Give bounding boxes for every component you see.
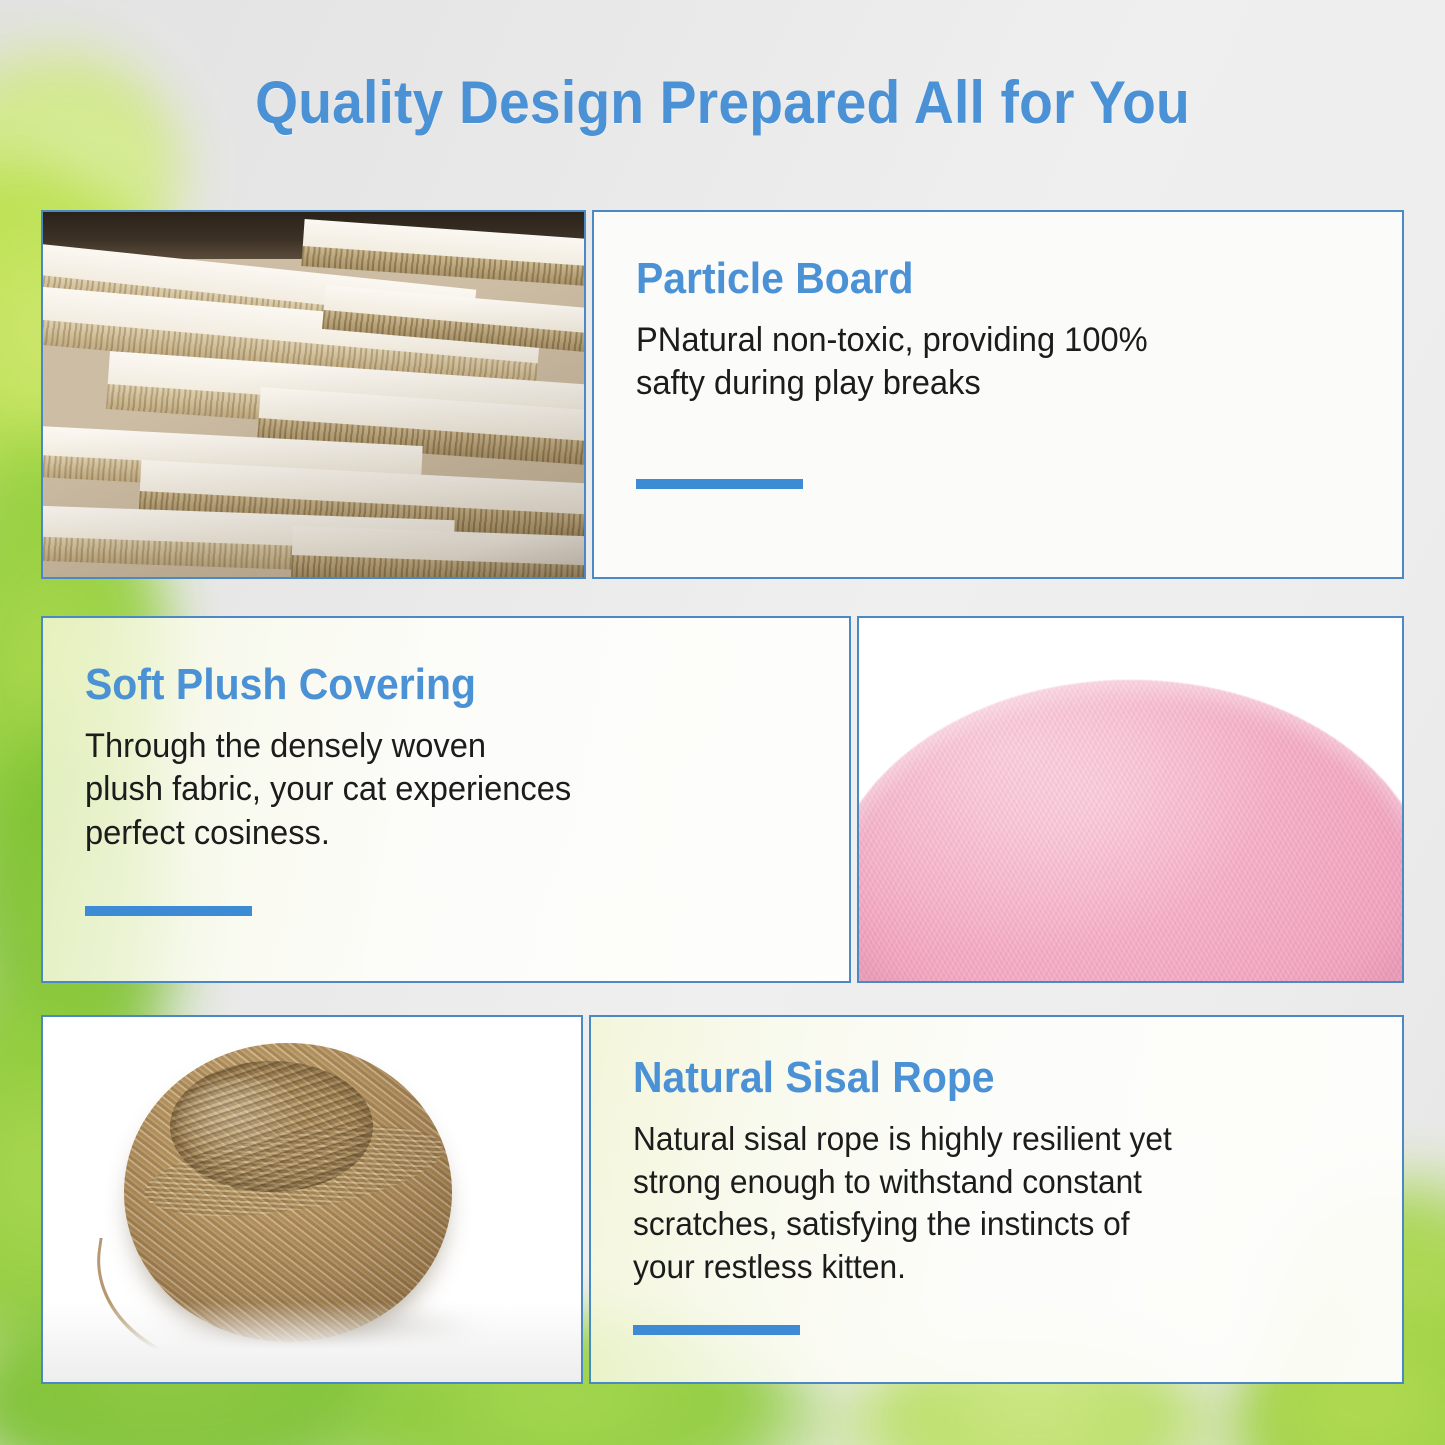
card-body-line: strong enough to withstand constant — [633, 1161, 1333, 1204]
card-body-line: plush fabric, your cat experiences — [85, 768, 780, 812]
feature-card-particle-board: Particle Board PNatural non-toxic, provi… — [41, 210, 1404, 579]
sisal-artwork — [43, 1017, 581, 1382]
card-body-line: safty during play breaks — [636, 362, 1333, 406]
sisal-rope-ball-photo — [41, 1015, 583, 1384]
feature-card-natural-sisal-rope: Natural Sisal Rope Natural sisal rope is… — [41, 1015, 1404, 1384]
feature-card-soft-plush-covering: Soft Plush Covering Through the densely … — [41, 616, 1404, 983]
particle-board-artwork — [43, 212, 584, 577]
card-body-line: your restless kitten. — [633, 1246, 1333, 1289]
pb-shading — [43, 212, 584, 577]
card-body-line: Natural sisal rope is highly resilient y… — [633, 1118, 1333, 1161]
plush-artwork — [859, 618, 1402, 981]
accent-bar — [85, 906, 252, 916]
sisal-ball-highlight — [176, 1078, 307, 1168]
plush-cushion-shading — [857, 680, 1404, 983]
infographic-stage: Quality Design Prepared All for You Part… — [0, 0, 1445, 1445]
card-body-line: Through the densely woven — [85, 725, 780, 769]
sisal-rope-text-panel: Natural Sisal Rope Natural sisal rope is… — [589, 1015, 1404, 1384]
accent-bar — [633, 1325, 800, 1335]
card-body: Through the densely woven plush fabric, … — [85, 725, 780, 856]
particle-board-text-panel: Particle Board PNatural non-toxic, provi… — [592, 210, 1404, 579]
card-body-line: scratches, satisfying the instincts of — [633, 1203, 1333, 1246]
card-title: Natural Sisal Rope — [633, 1055, 1311, 1102]
card-body: PNatural non-toxic, providing 100% safty… — [636, 319, 1333, 406]
card-body-line: perfect cosiness. — [85, 812, 780, 856]
card-title: Particle Board — [636, 256, 1311, 303]
pink-plush-fabric-photo — [857, 616, 1404, 983]
particle-board-photo — [41, 210, 586, 579]
page-title: Quality Design Prepared All for You — [58, 68, 1387, 137]
sisal-ball-band — [139, 1109, 449, 1233]
card-body-line: PNatural non-toxic, providing 100% — [636, 319, 1333, 363]
card-body: Natural sisal rope is highly resilient y… — [633, 1118, 1333, 1290]
sisal-floor — [43, 1302, 581, 1382]
soft-plush-text-panel: Soft Plush Covering Through the densely … — [41, 616, 851, 983]
card-title: Soft Plush Covering — [85, 662, 758, 709]
accent-bar — [636, 479, 803, 489]
